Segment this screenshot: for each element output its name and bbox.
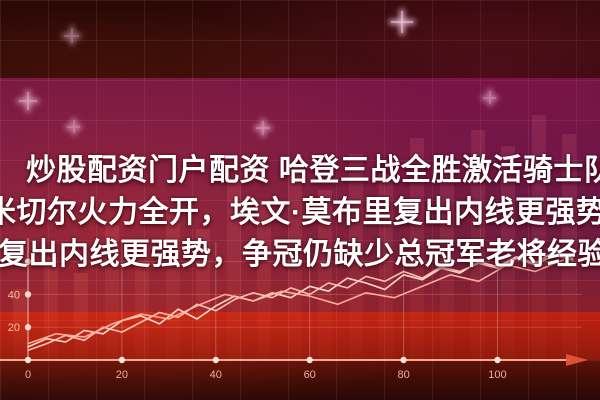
headline-line-1: 炒股配资门户配资 哈登三战全胜激活骑士队友， [0, 150, 600, 192]
svg-text:80: 80 [397, 369, 409, 381]
svg-text:60: 60 [304, 369, 316, 381]
headline-line-2: 米切尔火力全开，埃文·莫布里复出内线更强势，争冠 [0, 192, 600, 234]
svg-text:20: 20 [8, 322, 20, 334]
svg-text:20: 20 [116, 369, 128, 381]
svg-text:40: 40 [210, 369, 222, 381]
headline-text: 炒股配资门户配资 哈登三战全胜激活骑士队友， 米切尔火力全开，埃文·莫布里复出内… [0, 150, 600, 276]
svg-text:100: 100 [488, 369, 506, 381]
banner-image: 020406080100204060 炒股配资门户配资 哈登三战全胜激活骑士队友… [0, 0, 600, 400]
headline-line-3: 复出内线更强势，争冠仍缺少总冠军老将经验考验依 [0, 234, 600, 276]
svg-text:40: 40 [8, 289, 20, 301]
svg-text:0: 0 [25, 369, 31, 381]
